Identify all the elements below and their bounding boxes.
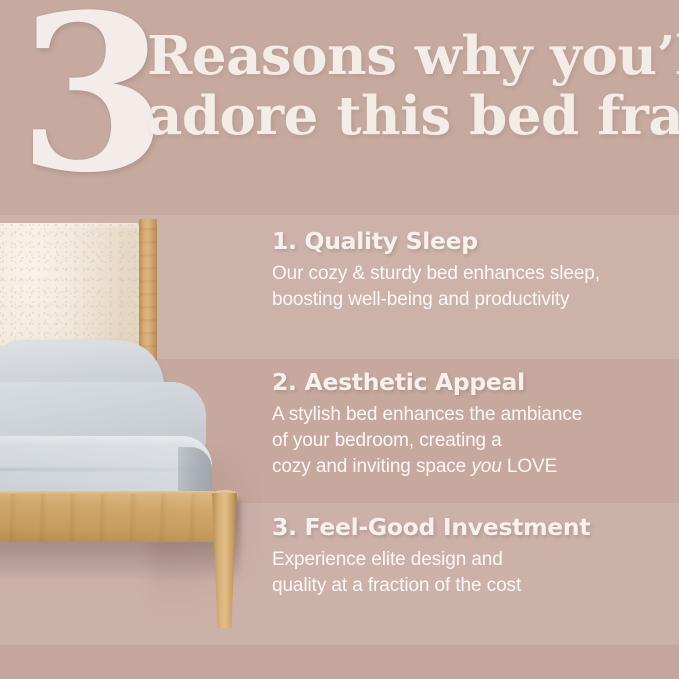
reason-2-body-post: LOVE bbox=[502, 456, 557, 477]
rail-wood-grain bbox=[0, 494, 214, 542]
reason-2-body-line-2: of your bedroom, creating a bbox=[272, 428, 672, 454]
reason-1-body-line-1: Our cozy & sturdy bed enhances sleep, bbox=[272, 261, 672, 287]
duvet-fold-line bbox=[0, 468, 200, 471]
reason-1-body: Our cozy & sturdy bed enhances sleep, bo… bbox=[272, 261, 672, 313]
headline-area: 3 Reasons why you’ll adore this bed fram… bbox=[0, 0, 679, 215]
reason-item-1: 1. Quality Sleep Our cozy & sturdy bed e… bbox=[272, 226, 672, 313]
wood-side-rail bbox=[0, 494, 214, 542]
headline-line-1: Reasons why you’ll bbox=[147, 26, 679, 86]
reason-1-body-line-2: boosting well-being and productivity bbox=[272, 287, 672, 313]
reason-3-body-line-2: quality at a fraction of the cost bbox=[272, 573, 672, 599]
reason-3-title: 3. Feel-Good Investment bbox=[272, 512, 672, 542]
reason-item-3: 3. Feel-Good Investment Experience elite… bbox=[272, 512, 672, 599]
headline-line-2: adore this bed frame bbox=[147, 86, 679, 146]
reason-2-title: 2. Aesthetic Appeal bbox=[272, 367, 672, 397]
reason-3-body-line-1: Experience elite design and bbox=[272, 547, 672, 573]
reason-2-body-line-1: A stylish bed enhances the ambiance bbox=[272, 402, 672, 428]
reason-3-body: Experience elite design and quality at a… bbox=[272, 547, 672, 599]
reason-2-body-line-3: cozy and inviting space you LOVE bbox=[272, 454, 672, 480]
headline-numeral: 3 bbox=[18, 0, 166, 201]
reason-2-body-pre: cozy and inviting space bbox=[272, 456, 471, 477]
bed-frame-photo bbox=[0, 200, 262, 679]
reason-2-body-emphasis: you bbox=[471, 456, 501, 477]
headline-text: Reasons why you’ll adore this bed frame bbox=[147, 26, 677, 146]
reason-item-2: 2. Aesthetic Appeal A stylish bed enhanc… bbox=[272, 367, 672, 480]
reason-2-body: A stylish bed enhances the ambiance of y… bbox=[272, 402, 672, 480]
reason-1-title: 1. Quality Sleep bbox=[272, 226, 672, 256]
marketing-infographic: 3 Reasons why you’ll adore this bed fram… bbox=[0, 0, 679, 679]
